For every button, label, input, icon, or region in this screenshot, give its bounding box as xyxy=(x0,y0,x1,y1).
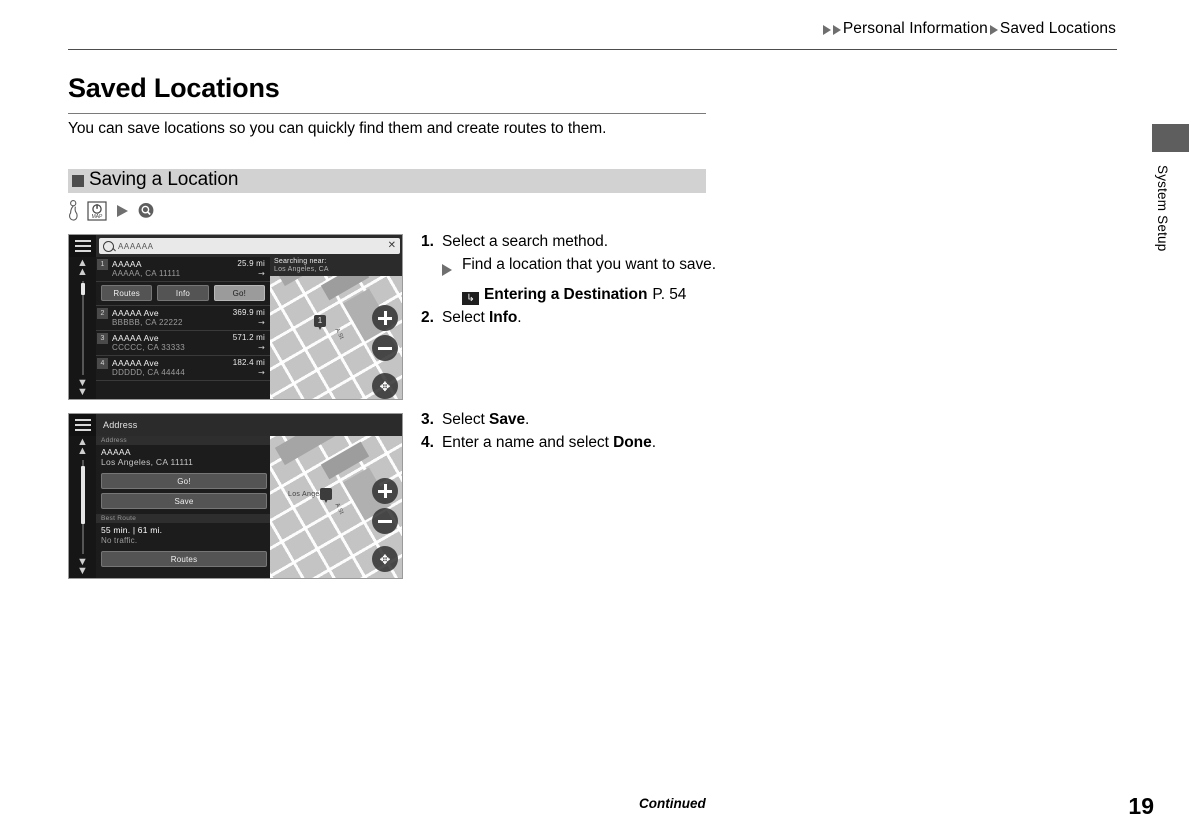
searching-near-banner: Searching near: Los Angeles, CA xyxy=(270,257,402,276)
zoom-out-button[interactable] xyxy=(372,508,398,534)
reference-title: Entering a Destination xyxy=(484,283,647,306)
nav-screenshot-address-detail: Address ▲▲ ▼▼ Address AAAAA Los Angeles,… xyxy=(68,413,403,579)
map-pin-icon: 1 xyxy=(314,315,326,327)
footer-page-number: 19 xyxy=(1128,793,1154,820)
searching-near-value: Los Angeles, CA xyxy=(274,266,398,274)
nav-screenshot-search-results: AAAAAA ✕ ▲▲ ▼▼ 1 AAAAA AAAAA, CA 11111 2… xyxy=(68,234,403,400)
result-distance: 182.4 mi xyxy=(233,358,265,367)
scroll-up-icon[interactable]: ▲▲ xyxy=(77,438,88,456)
map-button-icon: MAP xyxy=(87,201,107,221)
svg-text:MAP: MAP xyxy=(92,214,104,220)
search-icon xyxy=(103,241,114,252)
scroll-thumb[interactable] xyxy=(81,466,85,524)
header-divider xyxy=(68,49,1117,50)
list-item[interactable]: 1 AAAAA AAAAA, CA 11111 25.9 mi ↗ xyxy=(96,257,270,282)
step-4: 4. Enter a name and select Done. xyxy=(421,431,721,454)
search-input-value: AAAAAA xyxy=(114,242,385,251)
nav-topbar: AAAAAA ✕ xyxy=(69,235,402,257)
result-action-buttons: Routes Info Go! xyxy=(96,282,270,306)
step-number: 2. xyxy=(421,306,442,329)
save-button-wrap: Save xyxy=(96,491,270,511)
zoom-in-button[interactable] xyxy=(372,305,398,331)
section-header: Saving a Location xyxy=(68,169,706,193)
expand-map-button[interactable]: ✥ xyxy=(372,546,398,572)
step-3-post: . xyxy=(525,411,529,428)
address-name: AAAAA xyxy=(101,447,265,457)
section-bullet-icon xyxy=(72,175,84,187)
eta-time-distance: 55 min. | 61 mi. xyxy=(101,525,265,536)
clear-icon[interactable]: ✕ xyxy=(385,241,396,251)
nav-body: ▲▲ ▼▼ Address AAAAA Los Angeles, CA 1111… xyxy=(69,436,402,578)
step-2-target: Info xyxy=(489,309,517,326)
routes-button-wrap: Routes xyxy=(96,549,270,569)
address-line: Los Angeles, CA 11111 xyxy=(101,457,265,468)
breadcrumb: Personal Information Saved Locations xyxy=(822,20,1117,38)
map-panel[interactable]: Los Angeles A St ✥ xyxy=(270,436,402,578)
go-button[interactable]: Go! xyxy=(214,285,265,301)
results-list: 1 AAAAA AAAAA, CA 11111 25.9 mi ↗ Routes… xyxy=(96,257,270,399)
nav-topbar: Address xyxy=(69,414,402,436)
instruction-list-top: 1. Select a search method. Find a locati… xyxy=(421,230,721,329)
result-address: BBBBB, CA 22222 xyxy=(112,318,266,328)
result-index: 3 xyxy=(97,333,108,344)
search-circle-icon xyxy=(137,202,155,220)
zoom-out-button[interactable] xyxy=(372,335,398,361)
list-item[interactable]: 4 AAAAA Ave DDDDD, CA 44444 182.4 mi ↗ xyxy=(96,356,270,381)
step-4-pre: Enter a name and select xyxy=(442,434,613,451)
breadcrumb-arrow-icon xyxy=(990,25,998,35)
detail-panel: Address AAAAA Los Angeles, CA 11111 Go! … xyxy=(96,436,270,578)
section-title: Saving a Location xyxy=(89,169,238,191)
step-4-post: . xyxy=(652,434,656,451)
list-item[interactable]: 2 AAAAA Ave BBBBB, CA 22222 369.9 mi ↗ xyxy=(96,306,270,331)
expand-map-button[interactable]: ✥ xyxy=(372,373,398,399)
scroll-thumb[interactable] xyxy=(81,283,85,295)
page-title: Saved Locations xyxy=(68,73,280,104)
step-text: Select a search method. xyxy=(442,230,721,253)
reference-page: P. 54 xyxy=(647,283,686,306)
eta-block: 55 min. | 61 mi. No traffic. xyxy=(96,523,270,549)
side-tab-label: System Setup xyxy=(1148,165,1170,251)
step-4-target: Done xyxy=(613,434,652,451)
address-group-label: Address xyxy=(96,436,270,445)
substep-text: Find a location that you want to save. xyxy=(462,253,721,283)
best-route-label: Best Route xyxy=(96,514,270,523)
step-number: 3. xyxy=(421,408,442,431)
step-3-pre: Select xyxy=(442,411,489,428)
info-button[interactable]: Info xyxy=(157,285,208,301)
result-index: 1 xyxy=(97,259,108,270)
step-3-target: Save xyxy=(489,411,525,428)
scroll-down-icon[interactable]: ▼▼ xyxy=(77,558,88,576)
routes-button[interactable]: Routes xyxy=(101,285,152,301)
nav-body: ▲▲ ▼▼ 1 AAAAA AAAAA, CA 11111 25.9 mi ↗ … xyxy=(69,257,402,399)
intro-paragraph: You can save locations so you can quickl… xyxy=(68,120,728,138)
step-3: 3. Select Save. xyxy=(421,408,721,431)
step-2-pre: Select xyxy=(442,309,489,326)
hand-touch-icon xyxy=(67,200,80,222)
scroll-track xyxy=(82,281,84,375)
result-address: DDDDD, CA 44444 xyxy=(112,368,266,378)
save-button[interactable]: Save xyxy=(101,493,267,509)
breadcrumb-item-saved-locations: Saved Locations xyxy=(999,20,1117,38)
go-button-wrap: Go! xyxy=(96,471,270,491)
step-1: 1. Select a search method. xyxy=(421,230,721,253)
scroll-down-icon[interactable]: ▼▼ xyxy=(77,379,88,397)
step-text: Enter a name and select Done. xyxy=(442,431,721,454)
search-input[interactable]: AAAAAA ✕ xyxy=(99,238,400,254)
reference-arrow-icon: ↳ xyxy=(462,292,479,305)
result-distance: 571.2 mi xyxy=(233,333,265,342)
result-address: CCCCC, CA 33333 xyxy=(112,343,266,353)
breadcrumb-arrow-icon xyxy=(833,25,841,35)
result-distance: 25.9 mi xyxy=(237,259,265,268)
footer-continued-label: Continued xyxy=(639,796,706,811)
scroll-up-icon[interactable]: ▲▲ xyxy=(77,259,88,277)
screen-title: Address xyxy=(96,420,137,430)
step-2: 2. Select Info. xyxy=(421,306,721,329)
go-button[interactable]: Go! xyxy=(101,473,267,489)
menu-icon[interactable] xyxy=(69,414,96,436)
traffic-status: No traffic. xyxy=(101,536,265,546)
map-panel[interactable]: Searching near: Los Angeles, CA 1 A St ✥ xyxy=(270,257,402,399)
step-number: 4. xyxy=(421,431,442,454)
address-block: AAAAA Los Angeles, CA 11111 xyxy=(96,445,270,471)
step-text: Select Save. xyxy=(442,408,721,431)
result-distance: 369.9 mi xyxy=(233,308,265,317)
step-text: Select Info. xyxy=(442,306,721,329)
step-2-post: . xyxy=(517,309,521,326)
list-item[interactable]: 3 AAAAA Ave CCCCC, CA 33333 571.2 mi ↗ xyxy=(96,331,270,356)
play-arrow-icon xyxy=(114,203,130,219)
side-tab-marker xyxy=(1152,124,1189,152)
title-divider xyxy=(68,113,706,114)
step-number: 1. xyxy=(421,230,442,253)
searching-near-label: Searching near: xyxy=(274,258,398,266)
step-1-reference: ↳ Entering a Destination P. 54 xyxy=(421,283,721,306)
result-index: 4 xyxy=(97,358,108,369)
result-index: 2 xyxy=(97,308,108,319)
scrollbar[interactable]: ▲▲ ▼▼ xyxy=(69,257,96,399)
routes-button[interactable]: Routes xyxy=(101,551,267,567)
icon-strip: MAP xyxy=(67,200,155,222)
breadcrumb-item-personal-information: Personal Information xyxy=(842,20,989,38)
zoom-in-button[interactable] xyxy=(372,478,398,504)
scrollbar[interactable]: ▲▲ ▼▼ xyxy=(69,436,96,578)
step-1-substep: Find a location that you want to save. xyxy=(421,253,721,283)
result-address: AAAAA, CA 11111 xyxy=(112,269,266,279)
map-pin-icon xyxy=(320,488,332,500)
instruction-list-bottom: 3. Select Save. 4. Enter a name and sele… xyxy=(421,408,721,454)
substep-arrow-icon xyxy=(442,253,462,283)
menu-icon[interactable] xyxy=(69,235,96,257)
breadcrumb-arrow-icon xyxy=(823,25,831,35)
